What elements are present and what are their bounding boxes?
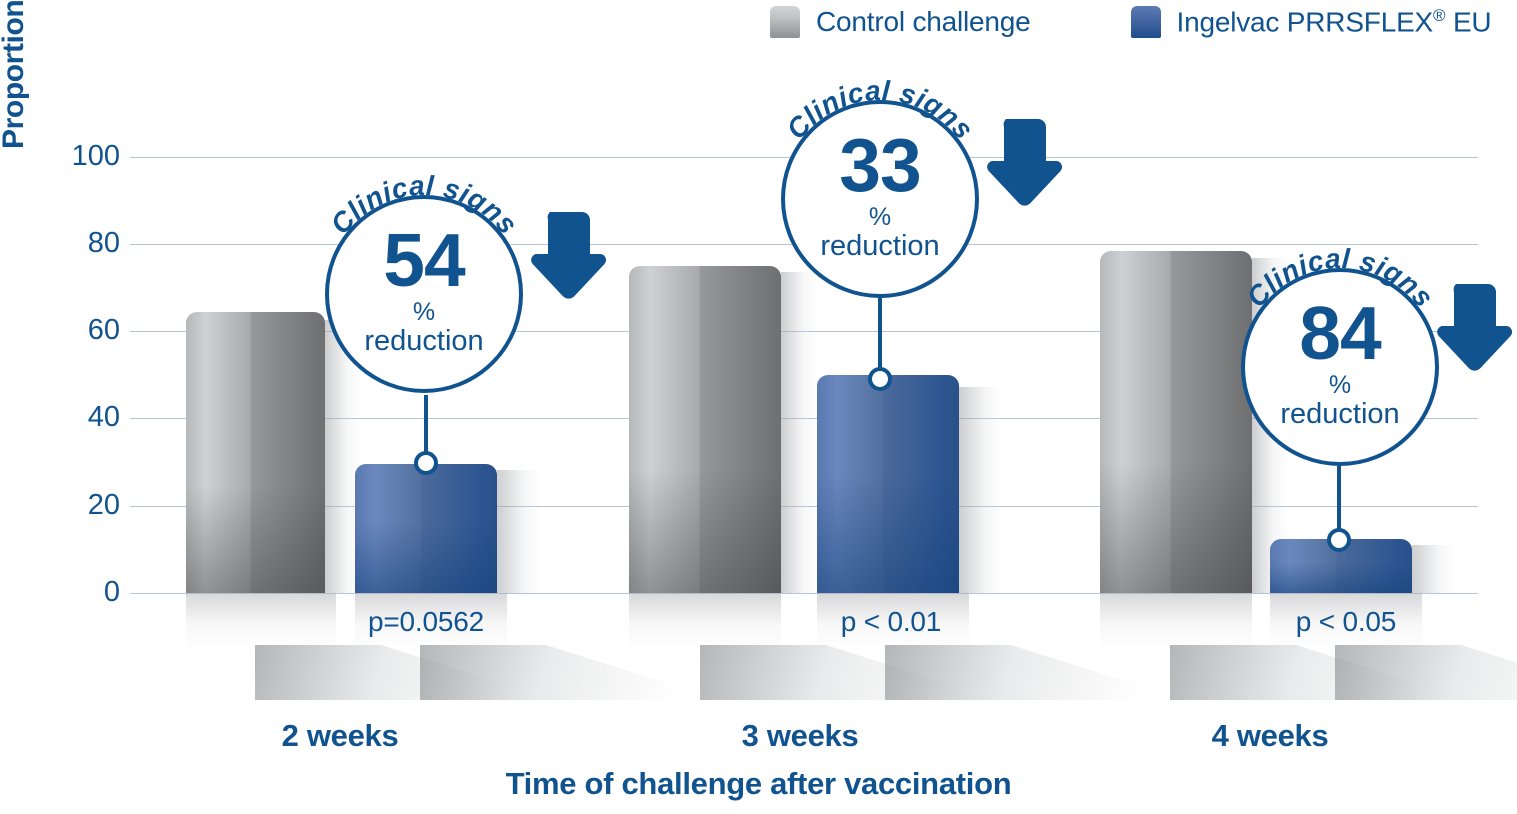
callout-dot-g2 (868, 367, 892, 391)
svg-text:Clinical signs: Clinical signs (324, 170, 523, 240)
bar-g1-vaccine[interactable] (355, 464, 497, 593)
down-arrow-icon-g3 (1430, 280, 1514, 384)
callout-arc-text-g3: Clinical signs (1217, 244, 1463, 490)
bar-shadow-g1-vaccine (420, 645, 720, 700)
gridline-20 (130, 506, 1478, 507)
svg-text:Clinical signs: Clinical signs (780, 75, 979, 145)
chart-plot-area: 100 80 60 40 20 0 p=0.0562 2 weeks p < 0… (0, 0, 1517, 814)
category-label-4-weeks: 4 weeks (1110, 718, 1430, 754)
bar-shadow-g2-vaccine (885, 645, 1185, 700)
bar-g2-vaccine[interactable] (817, 375, 959, 593)
gridline-0 (130, 593, 1478, 594)
bar-shadow-g3-vaccine (1335, 645, 1517, 700)
bar-shadow-g2-control (700, 645, 1000, 700)
p-value-g1: p=0.0562 (330, 606, 522, 638)
bar-reflection-g1-control (186, 593, 336, 651)
callout-arc-text-g2: Clinical signs (757, 76, 1003, 322)
bar-side-g3-vaccine (1412, 545, 1456, 593)
callout-arc-text-g1: Clinical signs (301, 171, 547, 417)
p-value-g2: p < 0.01 (795, 606, 987, 638)
bar-shadow-g1-control (255, 645, 555, 700)
callout-dot-g3 (1327, 528, 1351, 552)
p-value-g3: p < 0.05 (1250, 606, 1442, 638)
down-arrow-icon-g2 (980, 115, 1064, 219)
callout-heading-g3: Clinical signs (1240, 243, 1439, 313)
category-label-3-weeks: 3 weeks (640, 718, 960, 754)
down-arrow-icon-g1 (524, 208, 608, 312)
callout-heading-g2: Clinical signs (780, 75, 979, 145)
bar-side-g1-vaccine (497, 470, 541, 593)
callout-heading-g1: Clinical signs (324, 170, 523, 240)
svg-text:Clinical signs: Clinical signs (1240, 243, 1439, 313)
category-label-2-weeks: 2 weeks (180, 718, 500, 754)
bar-reflection-g2-control (629, 593, 781, 651)
bar-reflection-g3-control (1100, 593, 1252, 651)
callout-dot-g1 (414, 451, 438, 475)
bar-shadow-g3-control (1170, 645, 1470, 700)
